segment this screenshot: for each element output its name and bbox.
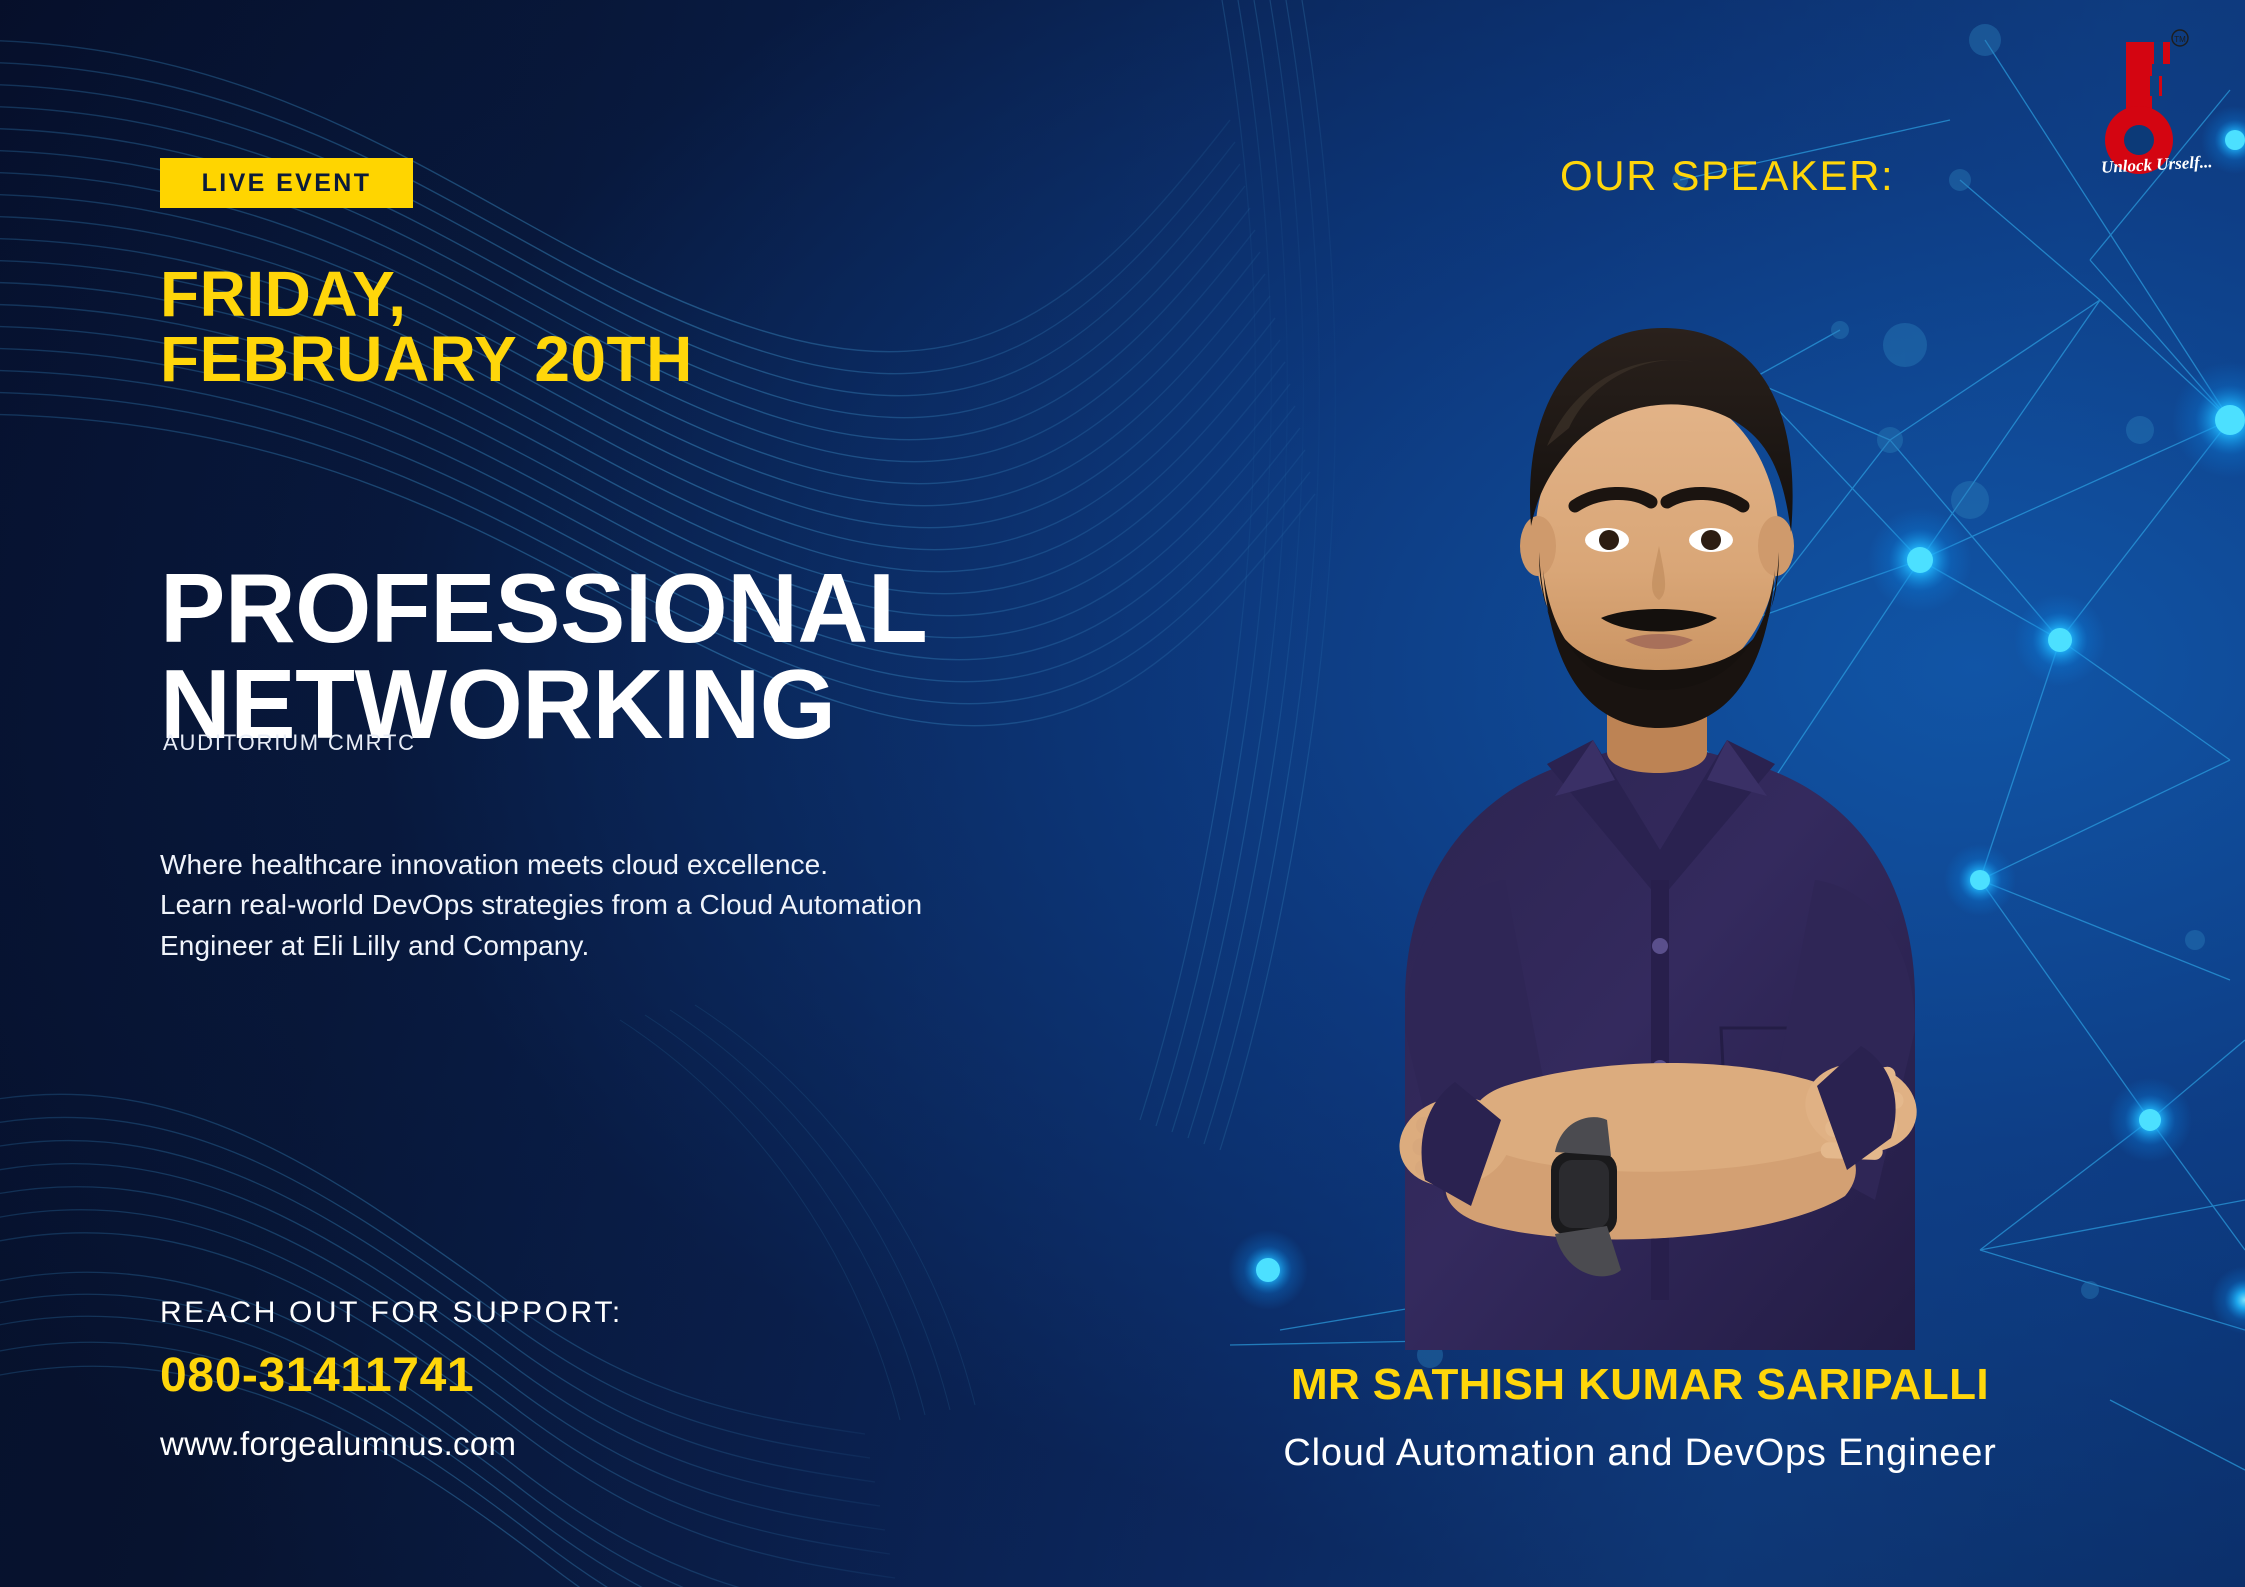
- event-date-line1: FRIDAY,: [160, 258, 407, 330]
- event-date: FRIDAY, FEBRUARY 20TH: [160, 262, 693, 393]
- support-phone-number[interactable]: 080-31411741: [160, 1348, 474, 1403]
- live-event-badge-label: LIVE EVENT: [202, 169, 372, 198]
- event-date-line2: FEBRUARY 20TH: [160, 327, 693, 392]
- headline-line1: PROFESSIONAL: [160, 553, 927, 663]
- speaker-portrait-photo: [1255, 240, 2055, 1350]
- forge-key-f-logo: TM Unlock Urself...: [2092, 18, 2222, 178]
- f-notch-mid: [2150, 76, 2159, 96]
- left-content-column: LIVE EVENT FRIDAY, FEBRUARY 20TH PROFESS…: [160, 0, 1210, 1587]
- f-notch-top: [2154, 42, 2163, 64]
- event-poster: LIVE EVENT FRIDAY, FEBRUARY 20TH PROFESS…: [0, 0, 2245, 1587]
- svg-text:TM: TM: [2174, 35, 2186, 44]
- website-url[interactable]: www.forgealumnus.com: [160, 1425, 516, 1463]
- description-line2: Learn real-world DevOps strategies from …: [160, 885, 1080, 925]
- speaker-name: MR SATHISH KUMAR SARIPALLI: [1210, 1360, 2070, 1410]
- trademark-icon: TM: [2172, 30, 2188, 46]
- description-line1: Where healthcare innovation meets cloud …: [160, 845, 1080, 885]
- event-headline: PROFESSIONAL NETWORKING: [160, 560, 927, 752]
- support-label: REACH OUT FOR SUPPORT:: [160, 1296, 623, 1330]
- event-description: Where healthcare innovation meets cloud …: [160, 845, 1080, 966]
- live-event-badge: LIVE EVENT: [160, 158, 413, 208]
- key-ring-hole: [2124, 125, 2154, 155]
- our-speaker-eyebrow: OUR SPEAKER:: [1560, 152, 1894, 200]
- speaker-role: Cloud Automation and DevOps Engineer: [1210, 1432, 2070, 1475]
- event-venue: AUDITORIUM CMRTC: [163, 730, 416, 756]
- description-line3: Engineer at Eli Lilly and Company.: [160, 926, 1080, 966]
